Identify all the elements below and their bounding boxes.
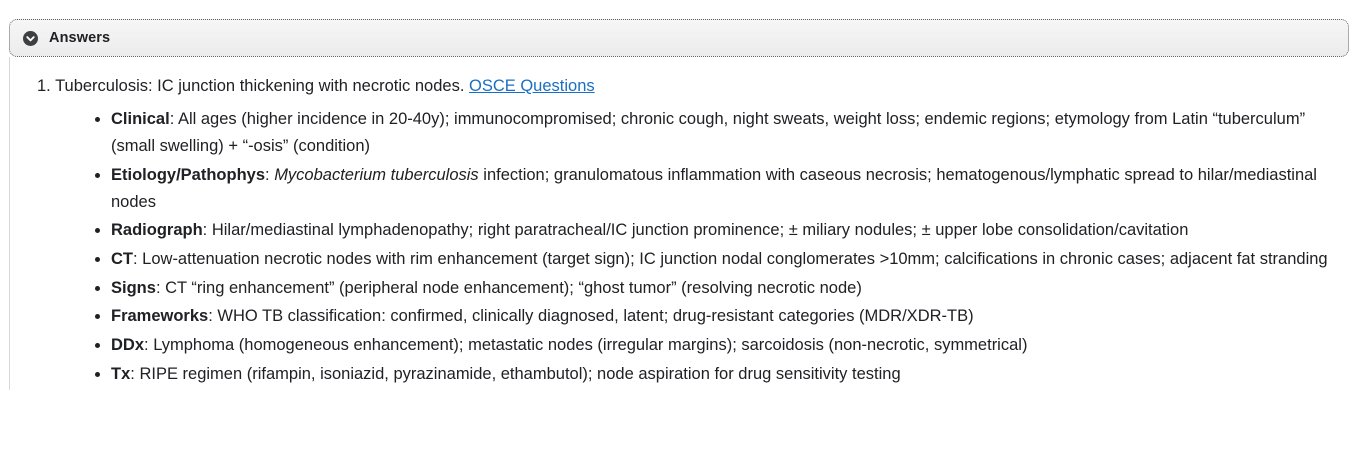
detail-text-before: WHO TB classification: confirmed, clinic… xyxy=(217,307,973,325)
answers-content: 1. Tuberculosis: IC junction thickening … xyxy=(9,57,1366,390)
chevron-down-circle-icon[interactable] xyxy=(23,31,38,46)
detail-separator: : xyxy=(170,110,178,128)
detail-separator: : xyxy=(144,336,153,354)
detail-label: DDx xyxy=(111,336,144,354)
answers-section-title: Answers xyxy=(49,31,110,46)
detail-separator: : xyxy=(203,221,212,239)
detail-text-before: RIPE regimen (rifampin, isoniazid, pyraz… xyxy=(139,365,900,383)
detail-item-ddx: DDx: Lymphoma (homogeneous enhancement);… xyxy=(10,332,1366,359)
osce-questions-link[interactable]: OSCE Questions xyxy=(469,77,595,95)
detail-separator: : xyxy=(133,250,142,268)
detail-label: Etiology/Pathophys xyxy=(111,166,265,184)
detail-separator: : xyxy=(208,307,217,325)
detail-text-before: Hilar/mediastinal lymphadenopathy; right… xyxy=(212,221,1189,239)
detail-label: CT xyxy=(111,250,133,268)
answer-item: 1. Tuberculosis: IC junction thickening … xyxy=(10,57,1366,388)
detail-text-before: Lymphoma (homogeneous enhancement); meta… xyxy=(153,336,1027,354)
detail-item-signs: Signs: CT “ring enhancement” (peripheral… xyxy=(10,275,1366,302)
detail-label: Frameworks xyxy=(111,307,208,325)
detail-item-frameworks: Frameworks: WHO TB classification: confi… xyxy=(10,303,1366,330)
detail-label: Clinical xyxy=(111,110,170,128)
detail-item-radiograph: Radiograph: Hilar/mediastinal lymphadeno… xyxy=(10,217,1366,244)
answer-number: 1. xyxy=(37,77,51,95)
detail-label: Signs xyxy=(111,279,156,297)
detail-text-before: All ages (higher incidence in 20-40y); i… xyxy=(111,110,1305,155)
detail-separator: : xyxy=(265,166,274,184)
detail-item-clinical: Clinical: All ages (higher incidence in … xyxy=(10,106,1366,159)
detail-separator: : xyxy=(156,279,165,297)
detail-item-etiology-pathophys: Etiology/Pathophys: Mycobacterium tuberc… xyxy=(10,162,1366,215)
answer-list: 1. Tuberculosis: IC junction thickening … xyxy=(10,57,1366,388)
detail-italic-term: Mycobacterium tuberculosis xyxy=(274,166,479,184)
answer-heading-text: Tuberculosis: IC junction thickening wit… xyxy=(55,77,464,95)
answer-detail-list: Clinical: All ages (higher incidence in … xyxy=(10,106,1366,387)
detail-item-ct: CT: Low-attenuation necrotic nodes with … xyxy=(10,246,1366,273)
answers-section-header[interactable]: Answers xyxy=(9,19,1349,57)
detail-label: Radiograph xyxy=(111,221,203,239)
detail-text-before: CT “ring enhancement” (peripheral node e… xyxy=(165,279,862,297)
answer-heading: 1. Tuberculosis: IC junction thickening … xyxy=(10,57,1366,97)
detail-label: Tx xyxy=(111,365,130,383)
detail-text-before: Low-attenuation necrotic nodes with rim … xyxy=(142,250,1327,268)
detail-item-tx: Tx: RIPE regimen (rifampin, isoniazid, p… xyxy=(10,361,1366,388)
